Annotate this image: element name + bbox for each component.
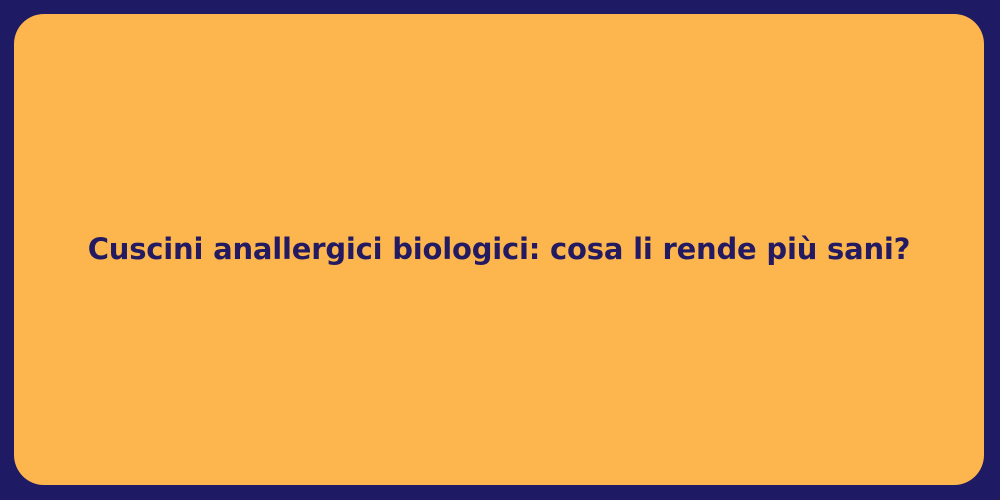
banner-card-panel: Cuscini anallergici biologici: cosa li r… — [14, 14, 984, 485]
banner-headline: Cuscini anallergici biologici: cosa li r… — [64, 231, 935, 267]
banner-frame: Cuscini anallergici biologici: cosa li r… — [0, 0, 1000, 500]
